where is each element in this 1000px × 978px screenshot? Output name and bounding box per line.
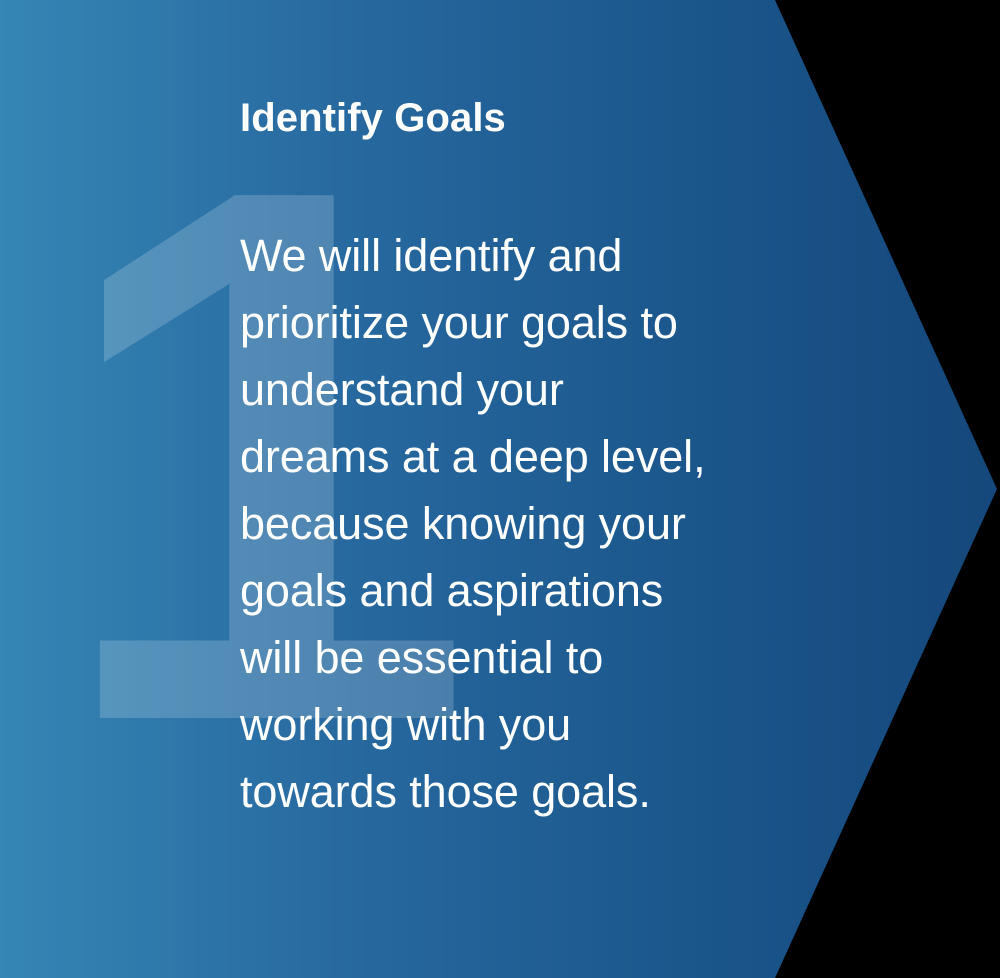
slide-canvas: 1 Identify Goals We will identify and pr… [0, 0, 1000, 978]
body-line: dreams at a deep level, [240, 423, 850, 490]
body-line: prioritize your goals to [240, 289, 850, 356]
banner-heading: Identify Goals [240, 92, 850, 144]
banner-body-text: We will identify and prioritize your goa… [240, 144, 850, 825]
body-line: towards those goals. [240, 758, 850, 825]
body-line: because knowing your [240, 490, 850, 557]
body-line: understand your [240, 356, 850, 423]
body-line: working with you [240, 691, 850, 758]
body-line: goals and aspirations [240, 557, 850, 624]
body-line: will be essential to [240, 624, 850, 691]
banner-content: Identify Goals We will identify and prio… [240, 92, 850, 825]
body-line: We will identify and [240, 222, 850, 289]
